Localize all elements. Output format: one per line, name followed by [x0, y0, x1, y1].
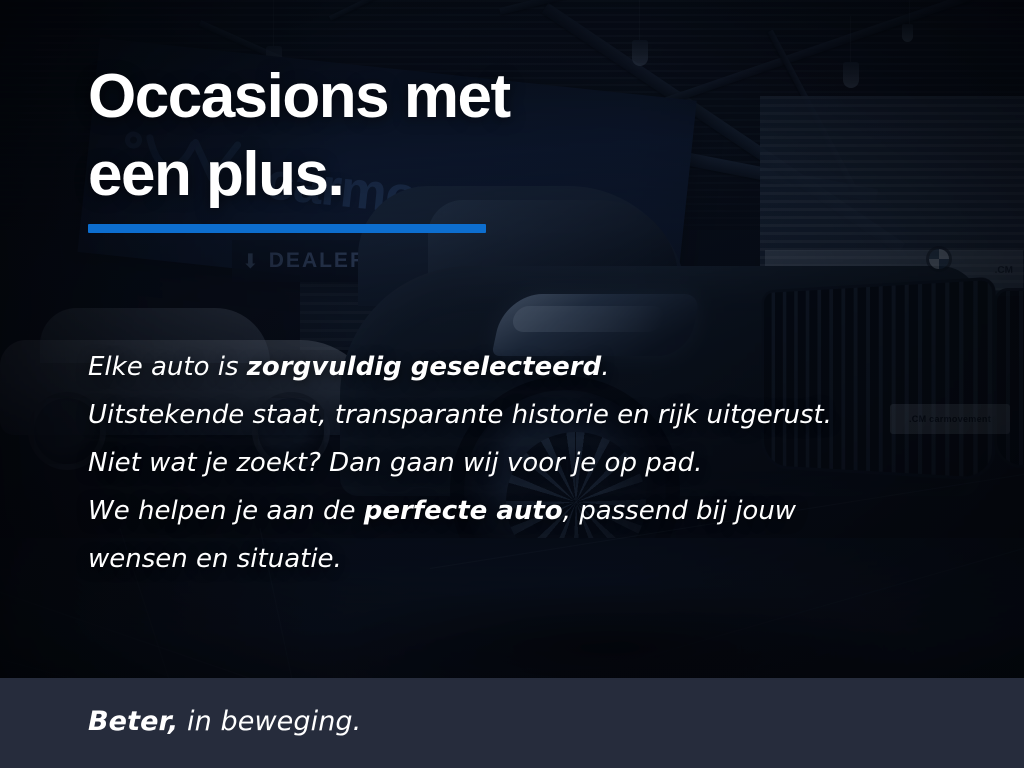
tagline: Beter, in beweging.: [88, 706, 361, 737]
body-line-1-text-c: .: [601, 352, 609, 382]
body-line-3: Niet wat je zoekt? Dan gaan wij voor je …: [88, 439, 918, 487]
headline-line-2: een plus.: [88, 140, 343, 209]
headline-line-1: Occasions met: [88, 62, 510, 131]
body-line-1-text-a: Elke auto is: [88, 352, 247, 382]
body-line-1-emphasis: zorgvuldig geselecteerd: [247, 352, 601, 382]
tagline-rest: in beweging.: [178, 706, 361, 737]
body-line-4-text-a: We helpen je aan de: [88, 496, 364, 526]
accent-divider-bar: [88, 224, 486, 233]
body-copy: Elke auto is zorgvuldig geselecteerd. Ui…: [88, 343, 918, 583]
promo-banner: carmovement ⬇ DEALERO AFLEVERPAKKETTEN. …: [0, 0, 1024, 768]
footer-bar: Beter, in beweging.: [0, 678, 1024, 768]
body-line-5: wensen en situatie.: [88, 535, 918, 583]
body-line-4: We helpen je aan de perfecte auto, passe…: [88, 487, 918, 535]
page-title: Occasions met een plus.: [88, 58, 510, 214]
body-line-4-emphasis: perfecte auto: [364, 496, 563, 526]
body-line-2: Uitstekende staat, transparante historie…: [88, 391, 918, 439]
body-line-4-text-c: , passend bij jouw: [563, 496, 796, 526]
body-line-1: Elke auto is zorgvuldig geselecteerd.: [88, 343, 918, 391]
tagline-bold: Beter,: [88, 706, 178, 737]
promo-content: Occasions met een plus. Elke auto is zor…: [0, 0, 1024, 768]
